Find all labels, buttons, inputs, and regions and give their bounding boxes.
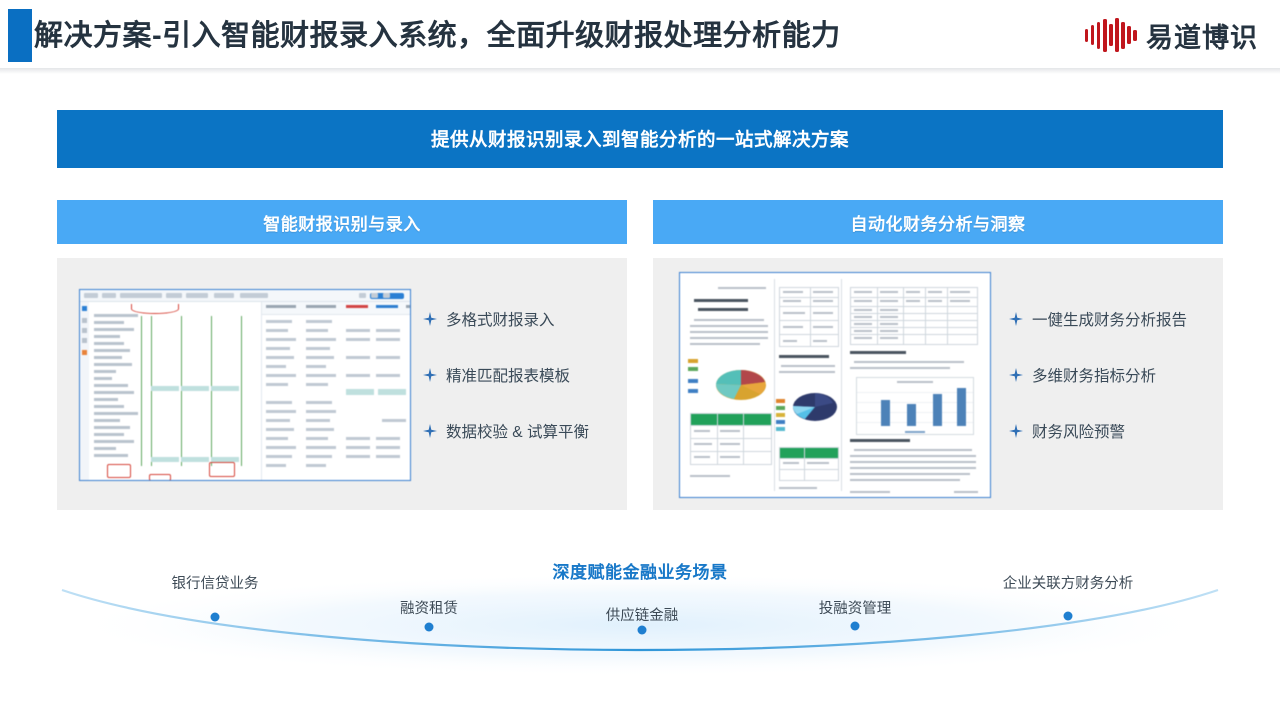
slide-header: 解决方案-引入智能财报录入系统，全面升级财报处理分析能力 易道博识: [0, 0, 1280, 70]
report-table-3: [779, 447, 839, 481]
header-accent-bar: [8, 9, 32, 62]
column-analysis-header: 自动化财务分析与洞察: [653, 200, 1223, 244]
analysis-feature-list: 一健生成财务分析报告 多维财务指标分析 财务风险预警: [1009, 308, 1209, 442]
app-main-split: [80, 302, 410, 480]
report-page-1: [686, 279, 775, 491]
diamond-bullet-icon: [423, 424, 437, 438]
list-item: 财务风险预警: [1009, 420, 1209, 442]
screenshot-recognition-app: [79, 289, 411, 481]
list-item-label: 数据校验 & 试算平衡: [446, 420, 589, 442]
diamond-bullet-icon: [1009, 312, 1023, 326]
column-recognition: 智能财报识别与录入: [57, 200, 627, 510]
diamond-bullet-icon: [1009, 368, 1023, 382]
recognition-feature-list: 多格式财报录入 精准匹配报表模板 数据校验 & 试算平衡: [423, 308, 613, 442]
list-item: 数据校验 & 试算平衡: [423, 420, 613, 442]
scenario-node-1-label: 银行信贷业务: [172, 572, 259, 593]
app-toolbar: [80, 290, 410, 302]
scenario-node-2-label: 融资租赁: [400, 597, 458, 618]
report-table-1: [690, 413, 772, 465]
scanned-statement-pane: [89, 302, 262, 480]
column-recognition-body: 多格式财报录入 精准匹配报表模板 数据校验 & 试算平衡: [57, 258, 627, 510]
pie-chart-liquid-assets: [787, 385, 839, 427]
scenario-node-3-dot: [638, 626, 647, 635]
column-recognition-header: 智能财报识别与录入: [57, 200, 627, 244]
diamond-bullet-icon: [1009, 424, 1023, 438]
bar-chart-total-assets: [856, 377, 974, 435]
extracted-table-pane: [262, 302, 410, 480]
column-analysis-title: 自动化财务分析与洞察: [851, 210, 1026, 235]
scenario-node-4-dot: [851, 622, 860, 631]
header-divider: [0, 68, 1280, 74]
scenario-node-5-dot: [1064, 612, 1073, 621]
scenario-node-2-dot: [425, 623, 434, 632]
column-recognition-title: 智能财报识别与录入: [263, 210, 421, 235]
list-item: 一健生成财务分析报告: [1009, 308, 1209, 330]
list-item-label: 一健生成财务分析报告: [1032, 308, 1187, 330]
slide-root: 解决方案-引入智能财报录入系统，全面升级财报处理分析能力 易道博识 提供从财报识…: [0, 0, 1280, 720]
solution-banner: 提供从财报识别录入到智能分析的一站式解决方案: [57, 110, 1223, 168]
list-item-label: 财务风险预警: [1032, 420, 1125, 442]
column-analysis: 自动化财务分析与洞察: [653, 200, 1223, 510]
report-table-4: [850, 287, 978, 345]
report-page-3: [842, 279, 984, 491]
list-item: 多格式财报录入: [423, 308, 613, 330]
list-item-label: 精准匹配报表模板: [446, 364, 570, 386]
list-item: 精准匹配报表模板: [423, 364, 613, 386]
logo-bars-icon: [1085, 17, 1137, 53]
list-item-label: 多格式财报录入: [446, 308, 555, 330]
scenario-node-5-label: 企业关联方财务分析: [1003, 572, 1134, 593]
brand-logo: 易道博识: [1085, 14, 1258, 56]
list-item: 多维财务指标分析: [1009, 364, 1209, 386]
diamond-bullet-icon: [423, 368, 437, 382]
logo-text: 易道博识: [1146, 16, 1258, 55]
screenshot-analysis-report: [679, 272, 991, 498]
report-table-2: [779, 287, 839, 347]
list-item-label: 多维财务指标分析: [1032, 364, 1156, 386]
solution-banner-text: 提供从财报识别录入到智能分析的一站式解决方案: [431, 126, 849, 152]
scenario-node-3-label: 供应链金融: [606, 604, 679, 625]
report-page-2: [775, 279, 842, 491]
column-analysis-body: 一健生成财务分析报告 多维财务指标分析 财务风险预警: [653, 258, 1223, 510]
scenario-node-4-label: 投融资管理: [819, 597, 892, 618]
page-title: 解决方案-引入智能财报录入系统，全面升级财报处理分析能力: [34, 12, 841, 60]
pie-chart-assets: [708, 357, 768, 405]
diamond-bullet-icon: [423, 312, 437, 326]
scenario-node-1-dot: [211, 613, 220, 622]
